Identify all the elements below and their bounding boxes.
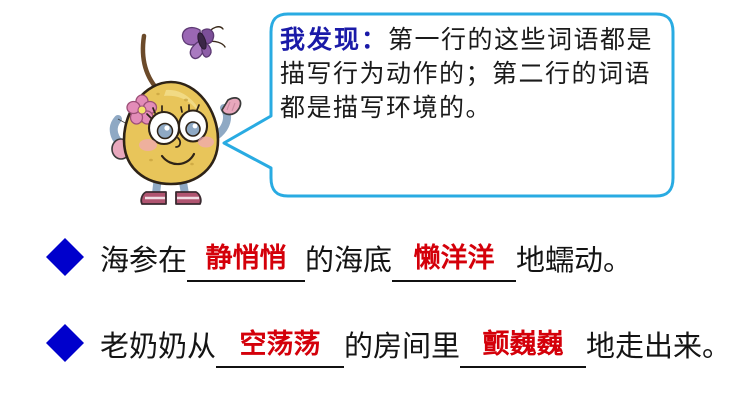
sentence-2-part-0: 老奶奶从 [100, 326, 216, 368]
sentence-2-part-2: 的房间里 [344, 326, 460, 368]
sentence-2: 老奶奶从 空荡荡 的房间里 颤巍巍 地走出来。 [100, 323, 731, 368]
diamond-bullet-icon [44, 236, 86, 278]
answer-blank-2[interactable]: 懒洋洋 [392, 237, 516, 282]
sentence-2-part-4: 地走出来。 [586, 326, 731, 368]
speech-bubble: 我发现：第一行的这些词语都是描写行为动作的；第二行的词语都是描写环境的。 [218, 8, 678, 202]
answer-word-1: 静悄悄 [200, 237, 293, 280]
sentence-1-part-2: 的海底 [305, 240, 392, 282]
answer-blank-1[interactable]: 静悄悄 [187, 237, 305, 282]
answer-word-3: 空荡荡 [234, 323, 327, 366]
slide-canvas: 我发现：第一行的这些词语都是描写行为动作的；第二行的词语都是描写环境的。 海参在… [0, 0, 742, 409]
answer-blank-3[interactable]: 空荡荡 [216, 323, 344, 368]
diamond-bullet-icon [44, 322, 86, 364]
answer-word-2: 懒洋洋 [408, 237, 501, 280]
bubble-text-block: 我发现：第一行的这些词语都是描写行为动作的；第二行的词语都是描写环境的。 [280, 24, 668, 194]
exercise-line-2: 老奶奶从 空荡荡 的房间里 颤巍巍 地走出来。 [44, 322, 731, 368]
sentence-1-part-0: 海参在 [100, 240, 187, 282]
sentence-1: 海参在 静悄悄 的海底 懒洋洋 地蠕动。 [100, 237, 632, 282]
sentence-1-part-4: 地蠕动。 [516, 240, 632, 282]
bubble-lead-label: 我发现： [280, 27, 388, 54]
answer-blank-4[interactable]: 颤巍巍 [460, 323, 586, 368]
exercise-line-1: 海参在 静悄悄 的海底 懒洋洋 地蠕动。 [44, 236, 632, 282]
answer-word-4: 颤巍巍 [477, 323, 570, 366]
